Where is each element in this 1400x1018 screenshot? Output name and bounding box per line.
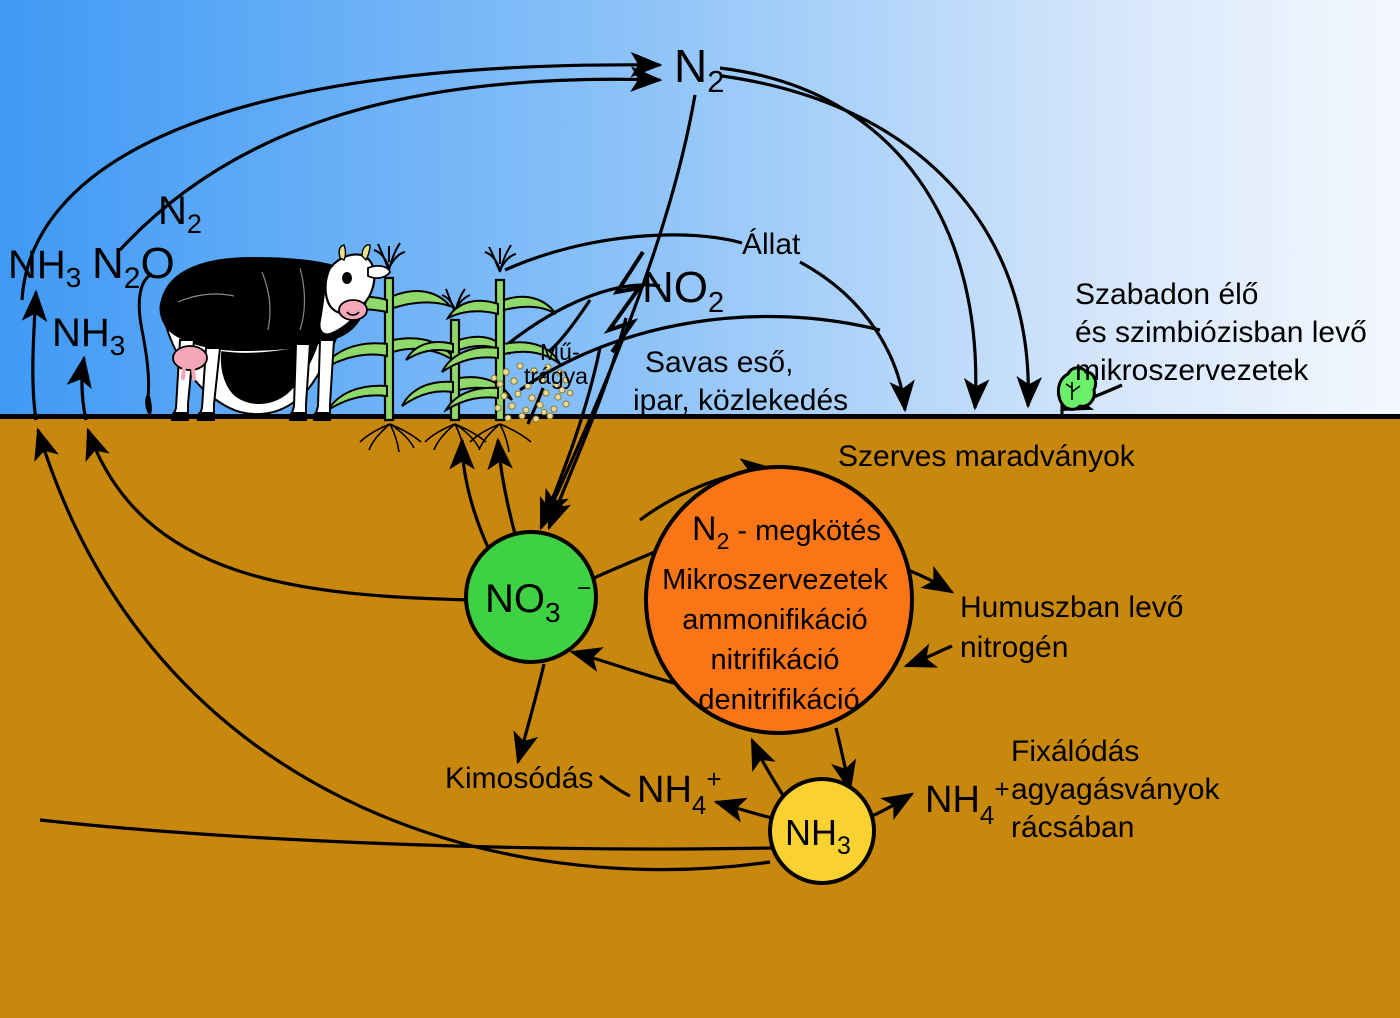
label-allat: Állat (742, 228, 801, 261)
label-szerves-maradvanyok: Szerves maradványok (838, 440, 1136, 473)
nitrogen-cycle-diagram: NH3 N2O N2 NH3 N2 NO2 Állat Mű- trágya S… (0, 0, 1400, 1018)
nitrate-node-charge: − (577, 575, 591, 602)
label-kimosodas: Kimosódás (445, 762, 593, 795)
